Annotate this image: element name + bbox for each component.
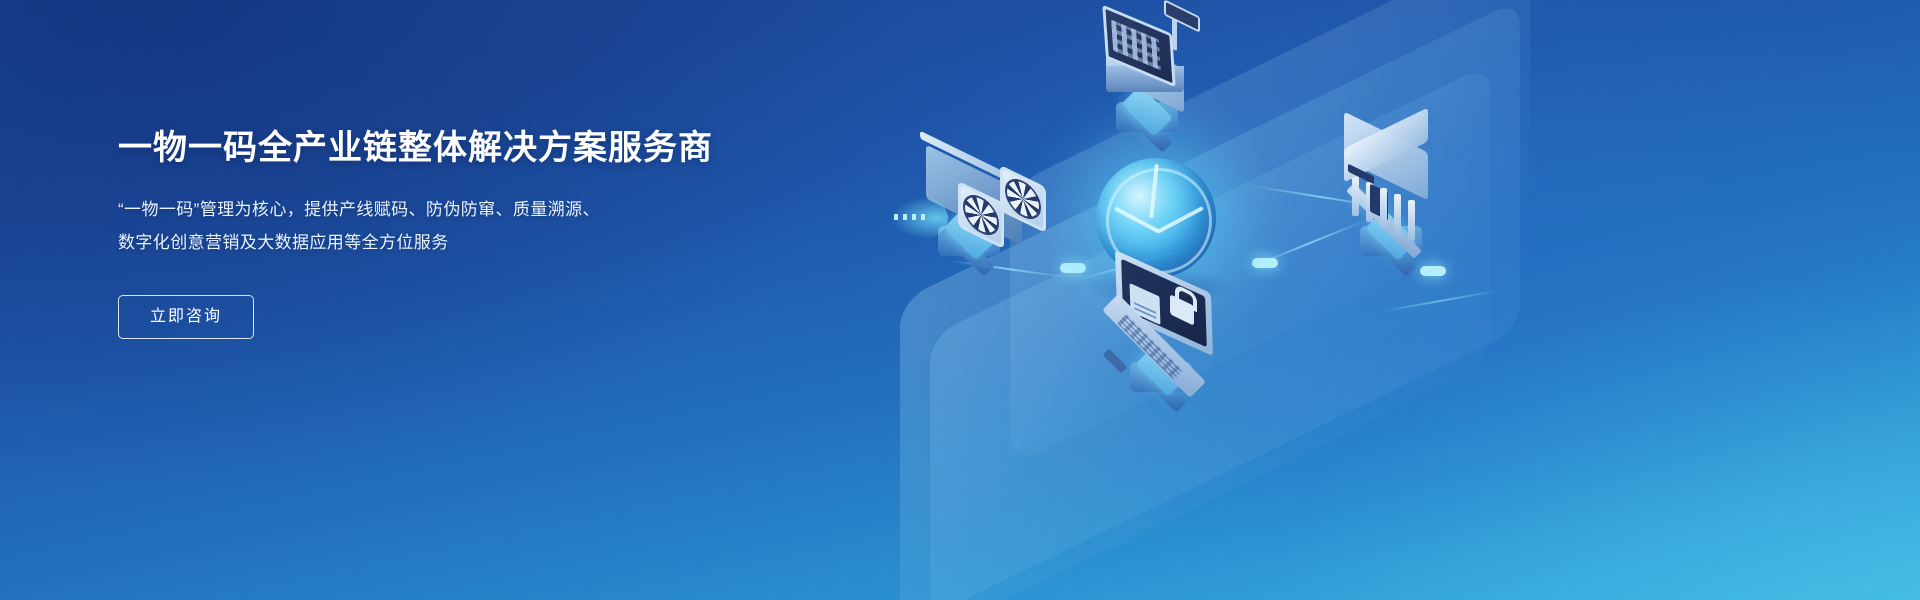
laptop-trackpad [1103, 349, 1128, 374]
data-pulse-dot [1420, 266, 1446, 276]
data-sphere-icon [1096, 158, 1216, 278]
bank-building-icon [1326, 126, 1466, 244]
bank-column [1408, 200, 1415, 240]
laptop-security-icon [1086, 272, 1246, 382]
consult-now-button[interactable]: 立即咨询 [118, 295, 254, 339]
hero-illustration [860, 0, 1920, 600]
hero-subtitle: “一物一码”管理为核心，提供产线赋码、防伪防窜、质量溯源、 数字化创意营销及大数… [118, 193, 818, 259]
hero-subtitle-line-1: “一物一码”管理为核心，提供产线赋码、防伪防窜、质量溯源、 [118, 193, 818, 226]
bank-column [1394, 194, 1401, 234]
pos-customer-display [1164, 0, 1200, 33]
data-pulse-dot [1252, 258, 1278, 268]
airflow-glow [890, 196, 948, 240]
pos-terminal-icon [1088, 8, 1208, 118]
server-rack-icon [896, 134, 1066, 254]
hero-subtitle-line-2: 数字化创意营销及大数据应用等全方位服务 [118, 226, 818, 259]
bank-column [1352, 176, 1359, 216]
bank-column [1380, 188, 1387, 228]
page-title: 一物一码全产业链整体解决方案服务商 [118, 128, 818, 169]
data-pulse-dot [1060, 263, 1086, 273]
hero-copy-block: 一物一码全产业链整体解决方案服务商 “一物一码”管理为核心，提供产线赋码、防伪防… [118, 128, 818, 339]
hero-banner: 一物一码全产业链整体解决方案服务商 “一物一码”管理为核心，提供产线赋码、防伪防… [0, 0, 1920, 600]
